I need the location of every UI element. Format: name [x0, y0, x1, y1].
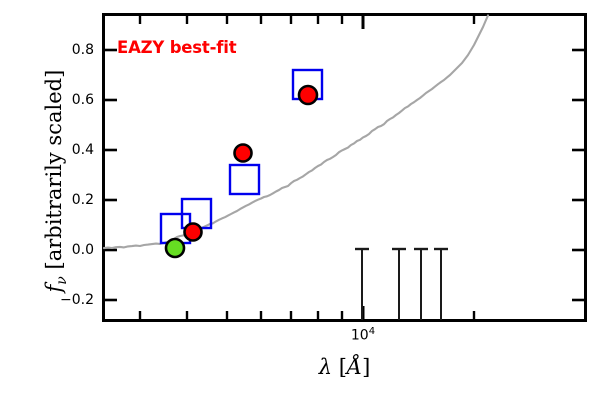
upper-limit-bar: [392, 249, 406, 320]
x-axis-label: λ [Å]: [103, 355, 586, 379]
observed-point-red: [299, 86, 317, 104]
observed-point-green: [166, 239, 184, 257]
upper-limit-bar: [414, 249, 428, 320]
x-tick-label-10e4: 104: [328, 326, 398, 344]
observed-point-red: [235, 145, 252, 162]
figure-canvas: EAZY best-fit 0.8 0.6 0.4 0.2 0.0 −0.2 1…: [0, 0, 600, 400]
y-tick-marks: [104, 50, 585, 300]
y-tick-label: 0.4: [48, 142, 94, 158]
upper-limit-bar: [355, 249, 369, 320]
upper-limit-bar: [434, 249, 448, 320]
y-tick-label: 0.8: [48, 42, 94, 58]
y-tick-label: 0.0: [48, 242, 94, 258]
y-tick-label: −0.2: [40, 292, 94, 308]
axes-frame: [104, 15, 586, 321]
y-tick-label: 0.6: [48, 92, 94, 108]
eazy-best-fit-annotation: EAZY best-fit: [117, 38, 236, 57]
observed-photometry: [166, 86, 317, 257]
model-square: [230, 165, 259, 194]
upper-limit-markers: [355, 249, 448, 320]
observed-point-red: [185, 224, 202, 241]
y-tick-label: 0.2: [48, 192, 94, 208]
x-minor-tick-marks: [140, 15, 474, 320]
